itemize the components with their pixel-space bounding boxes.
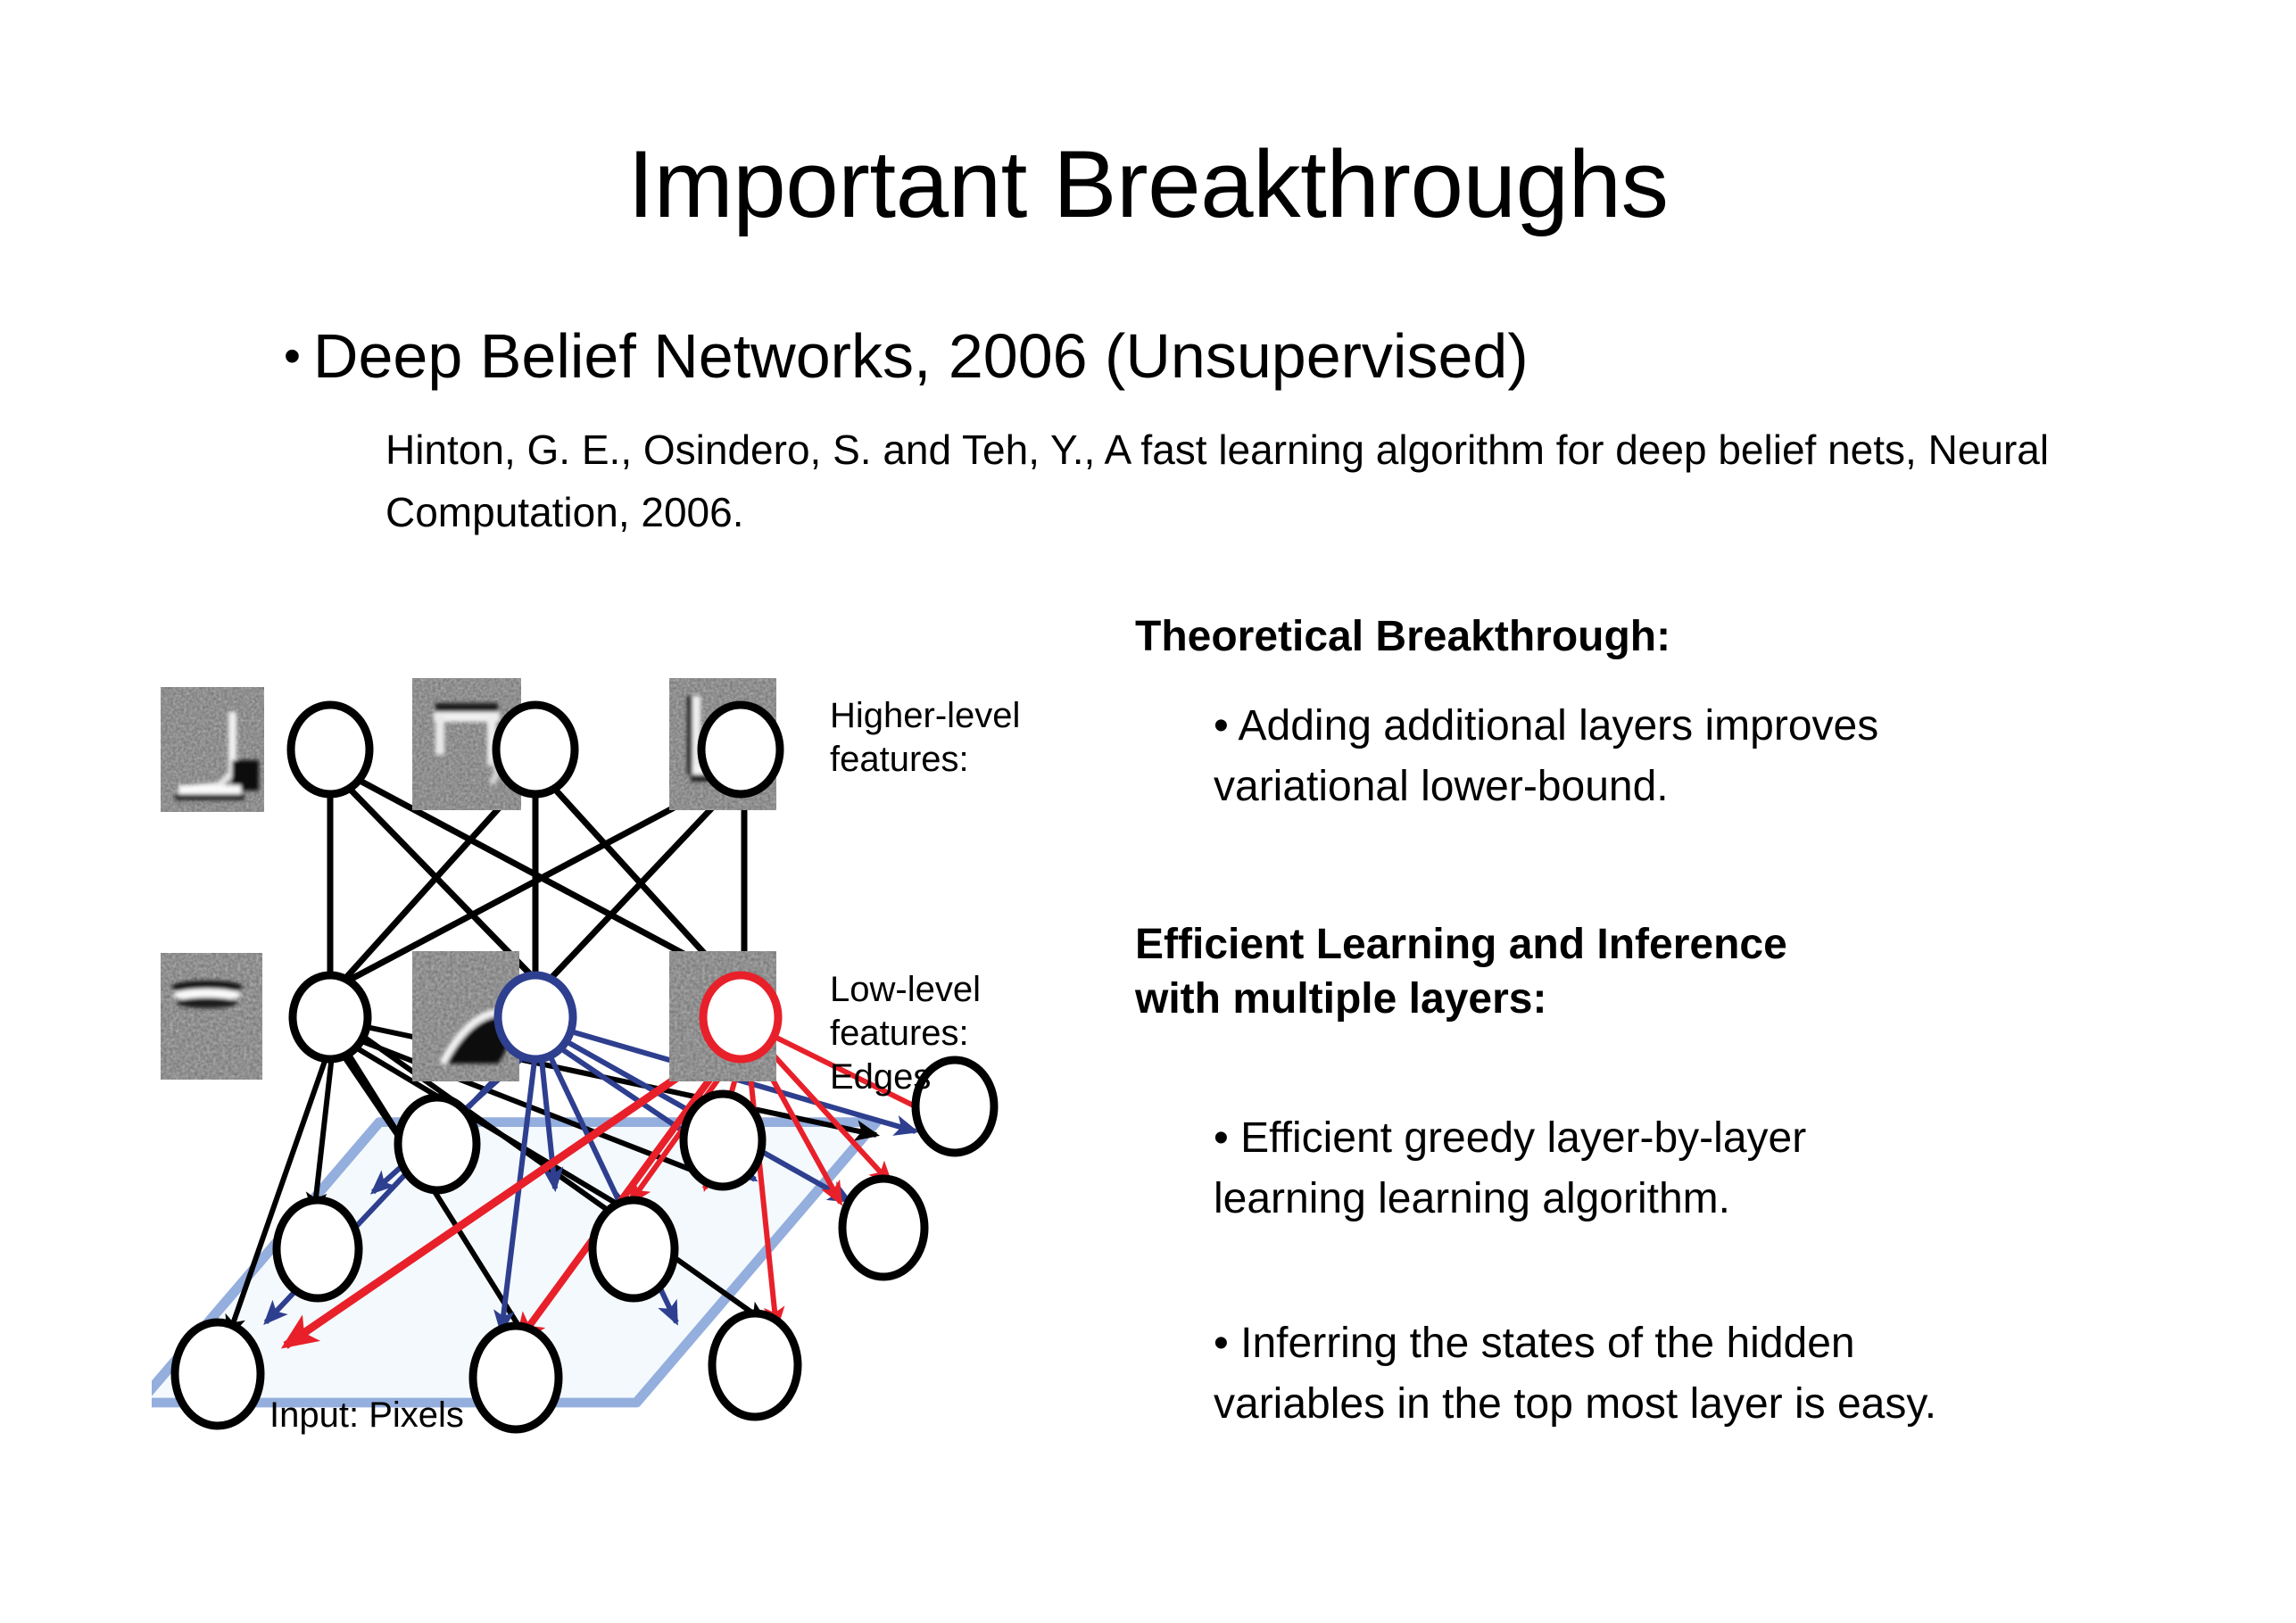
feature-patch-top-1 [161,687,264,812]
main-bullet-text: Deep Belief Networks, 2006 (Unsupervised… [313,321,1529,391]
theoretical-breakthrough-heading: Theoretical Breakthrough: [1135,609,1670,664]
input-node-7 [398,1097,477,1190]
input-node-1 [175,1322,261,1426]
efficient-learning-body: • Efficient greedy layer-by-layer learni… [1214,1108,1806,1230]
feature-patch-mid-1 [161,953,262,1080]
main-bullet-line: •Deep Belief Networks, 2006 (Unsupervise… [284,323,1529,389]
citation-text: Hinton, G. E., Osindero, S. and Teh, Y.,… [385,419,2072,544]
input-node-5 [593,1200,675,1298]
input-pixels-label: Input: Pixels [269,1395,464,1436]
node-top-3 [701,705,780,794]
slide-canvas: Important Breakthroughs •Deep Belief Net… [0,0,2296,1623]
node-top-1 [291,705,369,794]
node-mid-2 [498,975,573,1059]
higher-level-features-label: Higher-level features: [830,694,1020,782]
page-title: Important Breakthroughs [0,134,2296,234]
input-node-3 [712,1313,798,1417]
deep-belief-network-diagram: Higher-level features: Low-level feature… [152,660,1044,1499]
node-mid-3 [703,975,778,1059]
input-node-2 [473,1326,559,1429]
low-level-feature-patches [161,951,776,1081]
bullet-dot-icon: • [284,331,301,382]
efficient-learning-heading: Efficient Learning and Inference with mu… [1135,917,1787,1027]
inferring-states-body: • Inferring the states of the hidden var… [1214,1313,1936,1435]
input-node-6 [842,1179,924,1277]
theoretical-breakthrough-body: • Adding additional layers improves vari… [1214,696,1878,817]
higher-level-feature-patches [161,678,776,812]
input-node-4 [277,1200,359,1298]
node-top-2 [496,705,575,794]
low-level-features-label: Low-level features: Edges [830,968,981,1098]
node-mid-1 [293,975,368,1059]
input-node-8 [684,1094,762,1187]
